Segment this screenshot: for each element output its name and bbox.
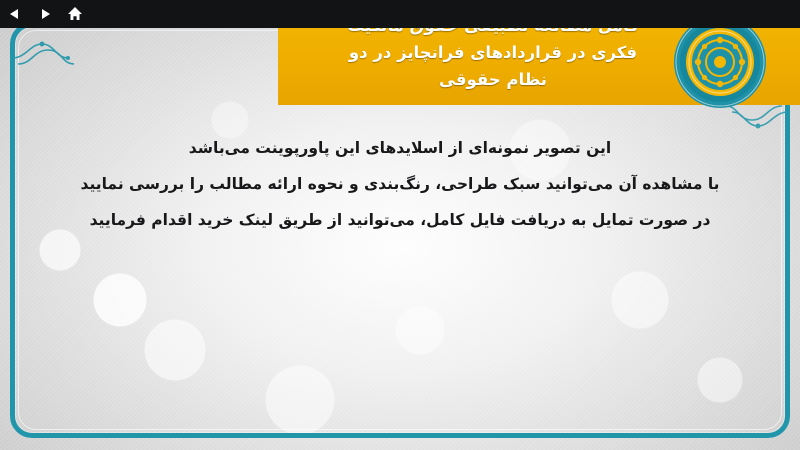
home-button[interactable] xyxy=(60,0,90,28)
slide-viewer: کامل مطالعه تطبیقی حقوق مالکیت فکری در ق… xyxy=(0,0,800,450)
slide-title-line-2: فکری در قراردادهای فرانچایز در دو xyxy=(349,39,637,66)
triangle-left-icon xyxy=(7,6,23,22)
slide-title-line-3: نظام حقوقی xyxy=(439,66,547,93)
ornament-medallion-icon xyxy=(672,14,768,110)
slide-body-line-2: با مشاهده آن می‌توانید سبک طراحی، رنگ‌بن… xyxy=(40,166,760,202)
triangle-right-icon xyxy=(37,6,53,22)
slide-body: این تصویر نمونه‌ای از اسلایدهای این پاور… xyxy=(40,130,760,238)
slide-body-line-1: این تصویر نمونه‌ای از اسلایدهای این پاور… xyxy=(40,130,760,166)
next-slide-button[interactable] xyxy=(30,0,60,28)
previous-slide-button[interactable] xyxy=(0,0,30,28)
navigation-controls xyxy=(0,0,90,28)
viewer-toolbar xyxy=(0,0,800,28)
slide-body-line-3: در صورت تمایل به دریافت فایل کامل، می‌تو… xyxy=(40,202,760,238)
home-icon xyxy=(66,5,84,23)
